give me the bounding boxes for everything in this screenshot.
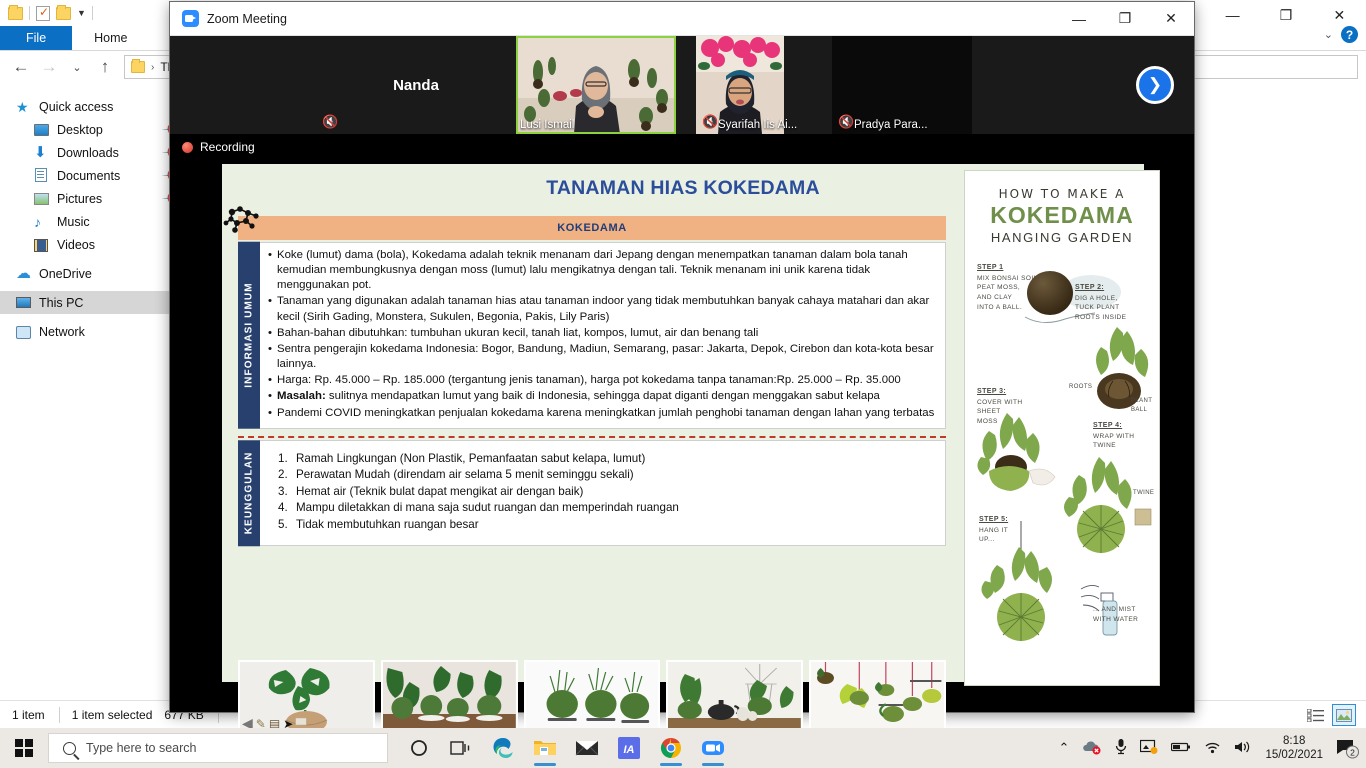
bullet-text: Bahan-bahan dibutuhkan: tumbuhan ukuran … bbox=[277, 326, 758, 341]
section-divider bbox=[238, 436, 946, 438]
list-item: •Koke (lumut) dama (bola), Kokedama adal… bbox=[268, 248, 935, 293]
display-icon[interactable] bbox=[1140, 739, 1158, 758]
recent-locations-button[interactable]: ⌄ bbox=[64, 54, 90, 80]
star-icon: ★ bbox=[16, 99, 32, 115]
breadcrumb-separator: › bbox=[151, 62, 154, 73]
folder-icon bbox=[131, 61, 145, 73]
clock-time: 8:18 bbox=[1265, 734, 1323, 748]
maximize-button[interactable]: ❐ bbox=[1102, 2, 1148, 36]
muted-mic-icon: 🔇 bbox=[322, 114, 338, 130]
info-block-body: •Koke (lumut) dama (bola), Kokedama adal… bbox=[260, 242, 946, 429]
forward-button[interactable]: → bbox=[36, 54, 62, 80]
list-item: •Sentra pengerajin kokedama Indonesia: B… bbox=[268, 342, 935, 372]
info-block-vertical-label: INFORMASI UMUM bbox=[238, 242, 260, 429]
search-placeholder: Type here to search bbox=[86, 741, 196, 755]
microsoft-edge-icon[interactable] bbox=[488, 728, 518, 768]
clock-date: 15/02/2021 bbox=[1265, 748, 1323, 762]
pictures-icon bbox=[34, 191, 50, 207]
battery-icon[interactable] bbox=[1171, 741, 1191, 756]
network-icon bbox=[16, 324, 32, 340]
view-mode-buttons bbox=[1304, 704, 1356, 726]
google-chrome-icon[interactable] bbox=[656, 728, 686, 768]
photo-thumbnail[interactable] bbox=[666, 660, 803, 734]
tab-file[interactable]: File bbox=[0, 26, 72, 50]
tab-home[interactable]: Home bbox=[72, 26, 149, 50]
bullet-text: Sentra pengerajin kokedama Indonesia: Bo… bbox=[277, 342, 935, 372]
bullet-text: Koke (lumut) dama (bola), Kokedama adala… bbox=[277, 248, 935, 293]
window-title: Zoom Meeting bbox=[207, 12, 287, 26]
divider bbox=[29, 6, 30, 20]
infographic-step-2: STEP 2: DIG A HOLE,TUCK PLANTROOTS INSID… bbox=[1075, 283, 1126, 323]
list-item: •Pandemi COVID meningkatkan penjualan ko… bbox=[268, 406, 935, 421]
zoom-logo-icon bbox=[182, 10, 199, 27]
selection-label: 1 item selected bbox=[60, 708, 165, 722]
this-pc-icon bbox=[16, 295, 32, 311]
search-icon bbox=[63, 742, 76, 755]
participant-tile[interactable]: 🔇 Pradya Para... bbox=[832, 36, 972, 134]
step-heading: STEP 2: bbox=[1075, 284, 1104, 291]
list-item: 3.Hemat air (Teknik bulat dapat mengikat… bbox=[274, 484, 935, 500]
participant-name: Pradya Para... bbox=[854, 119, 928, 131]
participant-tile[interactable]: Lusi Ismail bbox=[516, 36, 676, 134]
list-item: •Masalah: sulitnya mendapatkan lumut yan… bbox=[268, 389, 935, 404]
sidebar-item-label: Music bbox=[57, 215, 90, 229]
infographic-title-line1: HOW TO MAKE A bbox=[965, 187, 1159, 201]
list-item: •Harga: Rp. 45.000 – Rp. 185.000 (tergan… bbox=[268, 373, 935, 388]
participant-tile[interactable]: 🔇 Syarifah Iis Ai... bbox=[696, 36, 784, 134]
step-heading: STEP 3: bbox=[977, 388, 1006, 395]
sidebar-item-label: Network bbox=[39, 325, 85, 339]
sidebar-item-label: Downloads bbox=[57, 146, 119, 160]
bullet-text: Tanaman yang digunakan adalah tanaman hi… bbox=[277, 294, 935, 324]
list-text: Hemat air (Teknik bulat dapat mengikat a… bbox=[296, 484, 583, 500]
muted-mic-icon: 🔇 bbox=[838, 114, 854, 130]
onedrive-error-icon[interactable] bbox=[1082, 739, 1102, 758]
bullet-text: Pandemi COVID meningkatkan penjualan kok… bbox=[277, 406, 934, 421]
bullet-text: Harga: Rp. 45.000 – Rp. 185.000 (tergant… bbox=[277, 373, 901, 388]
videos-icon bbox=[34, 237, 50, 253]
list-number: 4. bbox=[274, 500, 296, 516]
cortana-icon[interactable] bbox=[404, 728, 434, 768]
documents-icon bbox=[34, 168, 50, 184]
list-text: Mampu diletakkan di mana saja sudut ruan… bbox=[296, 500, 679, 516]
info-block: INFORMASI UMUM •Koke (lumut) dama (bola)… bbox=[238, 242, 946, 429]
advantages-block: KEUNGGULAN 1.Ramah Lingkungan (Non Plast… bbox=[238, 440, 946, 546]
clock[interactable]: 8:18 15/02/2021 bbox=[1265, 734, 1323, 763]
muted-mic-icon: 🔇 bbox=[702, 114, 718, 130]
microphone-icon[interactable] bbox=[1115, 738, 1127, 758]
list-number: 2. bbox=[274, 467, 296, 483]
download-icon: ⬇ bbox=[34, 145, 50, 161]
sidebar-item-label: This PC bbox=[39, 296, 83, 310]
recording-dot-icon bbox=[182, 142, 193, 153]
list-item: 1.Ramah Lingkungan (Non Plastik, Pemanfa… bbox=[274, 451, 935, 467]
mail-icon[interactable] bbox=[572, 728, 602, 768]
svg-text:2: 2 bbox=[1350, 748, 1355, 758]
help-icon[interactable]: ? bbox=[1341, 26, 1358, 43]
windows-taskbar: Type here to search bbox=[0, 728, 1366, 768]
infographic-title-line2: KOKEDAMA bbox=[965, 202, 1159, 229]
properties-icon[interactable] bbox=[36, 6, 50, 21]
step-heading: STEP 1 bbox=[977, 264, 1003, 271]
sidebar-item-label: Documents bbox=[57, 169, 120, 183]
large-icons-view-icon[interactable] bbox=[1332, 704, 1356, 726]
annotation-mist: ... AND MISTWITH WATER bbox=[1093, 605, 1138, 625]
step-body: WRAP WITHTWINE bbox=[1093, 433, 1134, 450]
app-icon[interactable]: IA bbox=[614, 728, 644, 768]
minimize-button[interactable]: — bbox=[1056, 2, 1102, 36]
recording-indicator: Recording bbox=[182, 140, 255, 154]
step-body: DIG A HOLE,TUCK PLANTROOTS INSIDE bbox=[1075, 295, 1126, 322]
hanging-kokedama-illustration bbox=[973, 519, 1083, 659]
list-text: Tidak membutuhkan ruangan besar bbox=[296, 517, 479, 533]
section-header-bar: KOKEDAMA bbox=[238, 216, 946, 240]
volume-icon[interactable] bbox=[1234, 740, 1252, 757]
advantages-block-vertical-label: KEUNGGULAN bbox=[238, 440, 260, 546]
step-heading: STEP 4: bbox=[1093, 422, 1122, 429]
cloud-icon: ☁ bbox=[16, 266, 32, 282]
sidebar-item-label: Videos bbox=[57, 238, 95, 252]
list-text: Perawatan Mudah (direndam air selama 5 m… bbox=[296, 467, 634, 483]
annotation-plant-ball: PLANTBALL bbox=[1131, 397, 1152, 415]
divider bbox=[92, 6, 93, 20]
wifi-icon[interactable] bbox=[1204, 740, 1221, 757]
back-button[interactable]: ← bbox=[8, 54, 34, 80]
section-header-label: KOKEDAMA bbox=[557, 222, 627, 234]
sidebar-item-label: Quick access bbox=[39, 100, 113, 114]
participant-name: Lusi Ismail bbox=[520, 119, 574, 131]
photo-thumbnail[interactable] bbox=[809, 660, 946, 734]
participant-filmstrip: Nanda 🔇 bbox=[170, 36, 1194, 134]
participant-name: Syarifah Iis Ai... bbox=[718, 119, 797, 131]
list-item: 5.Tidak membutuhkan ruangan besar bbox=[274, 517, 935, 533]
annotation-roots: ROOTS bbox=[1069, 383, 1092, 392]
list-number: 3. bbox=[274, 484, 296, 500]
photo-thumbnail[interactable] bbox=[381, 660, 518, 734]
molecule-decoration-icon bbox=[222, 204, 264, 238]
sidebar-item-label: Desktop bbox=[57, 123, 103, 137]
slide-left-column: KOKEDAMA INFORMASI UMUM •Koke (lumut) da… bbox=[238, 216, 946, 546]
annotation-twine: TWINE bbox=[1133, 489, 1154, 498]
sidebar-item-label: Pictures bbox=[57, 192, 102, 206]
sidebar-item-label: OneDrive bbox=[39, 267, 92, 281]
list-item: •Bahan-bahan dibutuhkan: tumbuhan ukuran… bbox=[268, 326, 935, 341]
shared-screen-area: Recording TANAMAN HIAS KOKEDAMA bbox=[170, 134, 1194, 712]
list-item: 2.Perawatan Mudah (direndam air selama 5… bbox=[274, 467, 935, 483]
new-folder-icon[interactable] bbox=[56, 7, 71, 20]
zoom-icon[interactable] bbox=[698, 728, 728, 768]
list-item: •Tanaman yang digunakan adalah tanaman h… bbox=[268, 294, 935, 324]
ribbon-help-area: ⌄ ? bbox=[1324, 26, 1358, 43]
music-icon: ♪ bbox=[34, 214, 50, 230]
list-item: 4.Mampu diletakkan di mana saja sudut ru… bbox=[274, 500, 935, 516]
taskbar-pinned-apps: IA bbox=[404, 728, 728, 768]
next-page-button[interactable]: ❯ bbox=[1136, 66, 1174, 104]
search-input[interactable]: Type here to search bbox=[48, 733, 388, 763]
close-button[interactable]: ✕ bbox=[1148, 2, 1194, 36]
show-hidden-icons-button[interactable]: ⌃ bbox=[1059, 740, 1070, 756]
up-button[interactable]: ↑ bbox=[92, 54, 118, 80]
desktop-icon bbox=[34, 122, 50, 138]
list-text: Ramah Lingkungan (Non Plastik, Pemanfaat… bbox=[296, 451, 645, 467]
list-number: 1. bbox=[274, 451, 296, 467]
infographic-step-4: STEP 4: WRAP WITHTWINE bbox=[1093, 421, 1134, 451]
system-tray: ⌃ bbox=[1059, 734, 1366, 763]
chevron-down-icon[interactable]: ⌄ bbox=[1324, 28, 1333, 41]
windows-logo-icon bbox=[15, 739, 33, 757]
recording-label: Recording bbox=[200, 140, 255, 154]
infographic-title-line3: HANGING GARDEN bbox=[965, 230, 1159, 245]
photo-strip: ◀ ✎ ▤ ➤ bbox=[238, 660, 946, 734]
presentation-slide: TANAMAN HIAS KOKEDAMA bbox=[222, 164, 1144, 682]
svg-text:IA: IA bbox=[624, 744, 635, 756]
folder-icon[interactable] bbox=[8, 7, 23, 20]
file-explorer-icon[interactable] bbox=[530, 728, 560, 768]
task-view-icon[interactable] bbox=[446, 728, 476, 768]
list-number: 5. bbox=[274, 517, 296, 533]
item-count-label: 1 item bbox=[0, 708, 59, 722]
zoom-meeting-window: Zoom Meeting — ❐ ✕ Nanda 🔇 bbox=[170, 2, 1194, 712]
notification-center-button[interactable]: 2 bbox=[1336, 737, 1358, 759]
infographic-panel: HOW TO MAKE A KOKEDAMA HANGING GARDEN ST… bbox=[964, 170, 1160, 686]
customize-caret-icon[interactable]: ▼ bbox=[77, 8, 86, 18]
zoom-title-bar: Zoom Meeting — ❐ ✕ bbox=[170, 2, 1194, 36]
photo-thumbnail[interactable] bbox=[524, 660, 661, 734]
bullet-text: Masalah: sulitnya mendapatkan lumut yang… bbox=[277, 389, 880, 404]
start-button[interactable] bbox=[0, 728, 48, 768]
advantages-block-body: 1.Ramah Lingkungan (Non Plastik, Pemanfa… bbox=[260, 440, 946, 546]
participant-name: Nanda bbox=[393, 77, 439, 94]
zoom-window-buttons: — ❐ ✕ bbox=[1056, 2, 1194, 36]
participant-tile[interactable]: Nanda 🔇 bbox=[316, 36, 516, 134]
details-view-icon[interactable] bbox=[1304, 704, 1328, 726]
